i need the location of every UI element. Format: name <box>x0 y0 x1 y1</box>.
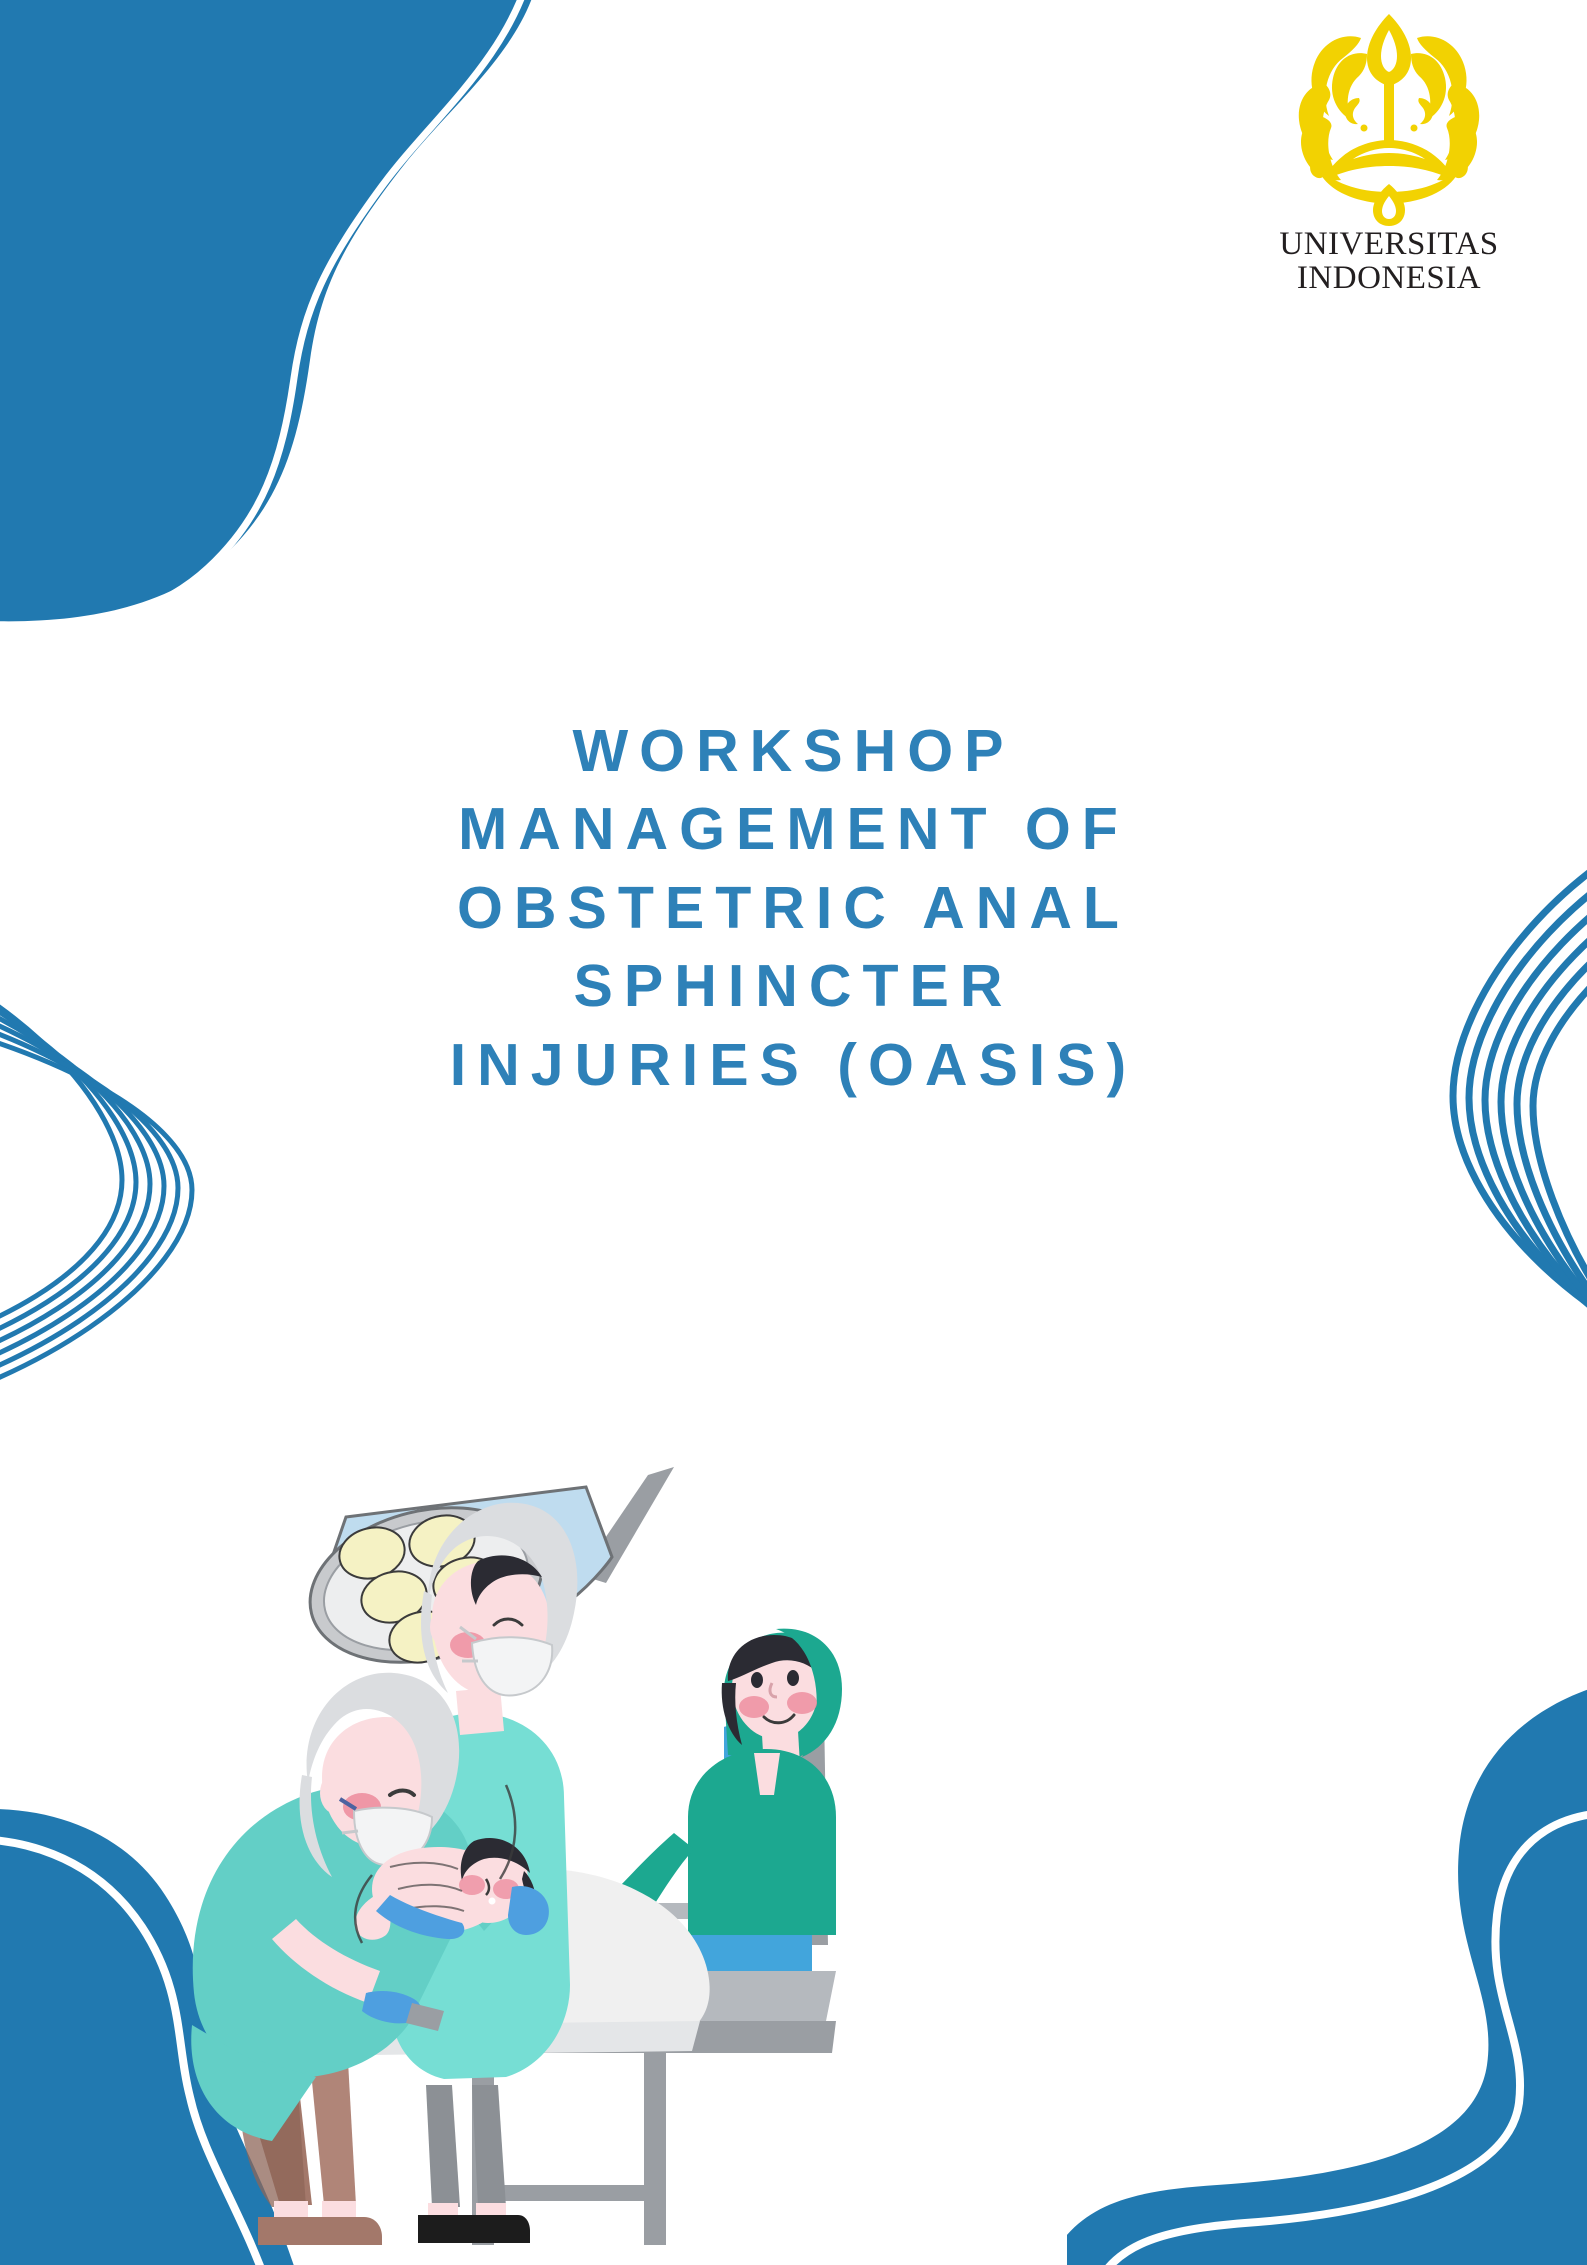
logo-block: UNIVERSITAS INDONESIA <box>1269 8 1509 295</box>
makara-logo-icon <box>1289 8 1489 228</box>
title-line-3: OBSTETRIC ANAL <box>130 869 1457 947</box>
top-left-blob <box>0 0 620 650</box>
cover-page: UNIVERSITAS INDONESIA WORKSHOP MANAGEMEN… <box>0 0 1587 2245</box>
title-line-4: SPHINCTER <box>130 947 1457 1025</box>
logo-wordmark: UNIVERSITAS INDONESIA <box>1269 228 1509 295</box>
logo-line-2: INDONESIA <box>1269 262 1509 296</box>
title-block: WORKSHOP MANAGEMENT OF OBSTETRIC ANAL SP… <box>0 712 1587 1104</box>
bottom-right-blob <box>1067 1665 1587 2265</box>
title-line-5: INJURIES (OASIS) <box>130 1026 1457 1104</box>
title-line-1: WORKSHOP <box>130 712 1457 790</box>
childbirth-illustration <box>176 1465 966 2245</box>
title-line-2: MANAGEMENT OF <box>130 790 1457 868</box>
page-title: WORKSHOP MANAGEMENT OF OBSTETRIC ANAL SP… <box>0 712 1587 1104</box>
illustration-canvas <box>176 1465 966 2245</box>
logo-line-1: UNIVERSITAS <box>1269 228 1509 262</box>
